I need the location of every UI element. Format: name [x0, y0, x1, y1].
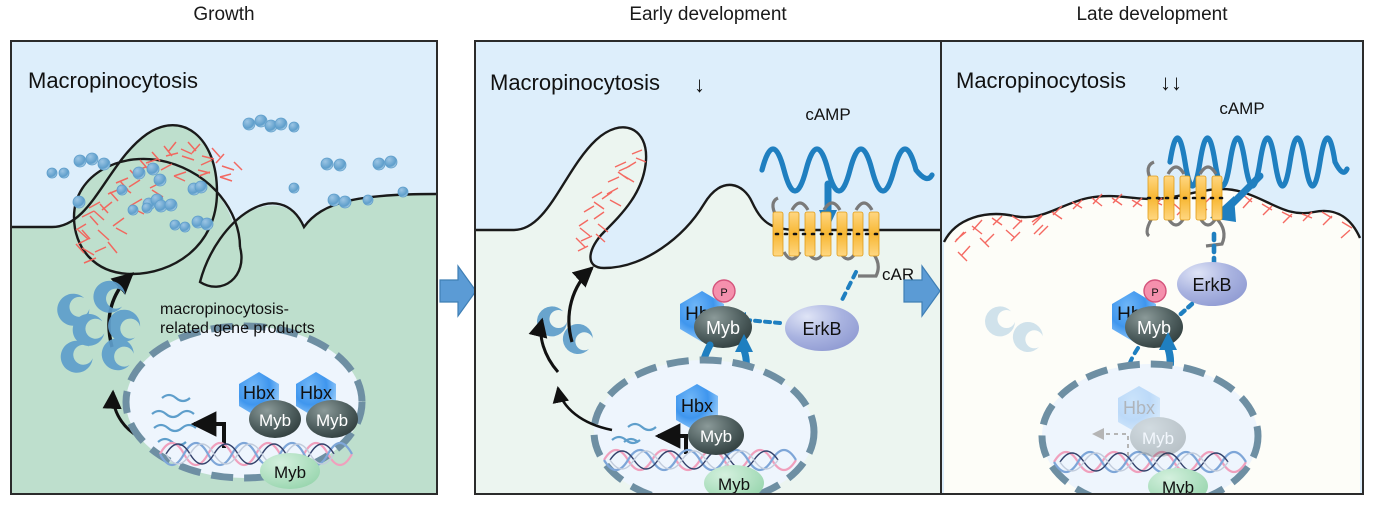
- hbx-label: Hbx: [300, 383, 332, 403]
- hbx-label: Hbx: [681, 396, 713, 416]
- free-myb-label: Myb: [718, 475, 750, 493]
- annotation-line-2: related gene products: [160, 320, 315, 337]
- headline-macropinocytosis: Macropinocytosis: [956, 68, 1126, 93]
- free-myb-label: Myb: [274, 463, 306, 482]
- headline-down-arrows: ↓: [694, 72, 705, 97]
- phospho-label: P: [720, 287, 727, 299]
- myb-label: Myb: [1137, 318, 1171, 338]
- panel-growth: Hbx Myb Hbx Myb Myb Macropinocytosis mac…: [10, 40, 438, 495]
- hbx-label: Hbx: [1123, 398, 1155, 418]
- erkb-label: ErkB: [802, 319, 841, 339]
- camp-label: cAMP: [1219, 99, 1264, 118]
- myb-label: Myb: [259, 411, 291, 430]
- figure-canvas: Growth Early development Late developmen…: [0, 0, 1373, 520]
- connector-arrow-growth-to-early: [438, 262, 478, 320]
- myb-label: Myb: [316, 411, 348, 430]
- annotation-line-1: macropinocytosis-: [160, 301, 289, 318]
- headline-down-arrows: ↓↓: [1160, 70, 1182, 95]
- erkb-label: ErkB: [1192, 275, 1231, 295]
- panel-title-growth: Growth: [10, 4, 438, 26]
- phospho-label: P: [1151, 287, 1158, 299]
- myb-label: Myb: [700, 427, 732, 446]
- headline-macropinocytosis: Macropinocytosis: [490, 70, 660, 95]
- panel-late: cAMP: [940, 40, 1364, 495]
- camp-label: cAMP: [805, 105, 850, 124]
- erkb-node: ErkB: [1177, 262, 1247, 306]
- panel-early: cAMP: [474, 40, 942, 495]
- hbx-label: Hbx: [243, 383, 275, 403]
- free-myb-label: Myb: [1162, 478, 1194, 493]
- myb-label: Myb: [1142, 429, 1174, 448]
- panel-title-early: Early development: [474, 4, 942, 26]
- myb-label: Myb: [706, 318, 740, 338]
- connector-arrow-early-to-late: [902, 262, 942, 320]
- panel-title-late: Late development: [940, 4, 1364, 26]
- erkb-node: ErkB: [785, 305, 859, 351]
- free-myb: Myb: [260, 453, 320, 489]
- headline-macropinocytosis: Macropinocytosis: [28, 68, 198, 93]
